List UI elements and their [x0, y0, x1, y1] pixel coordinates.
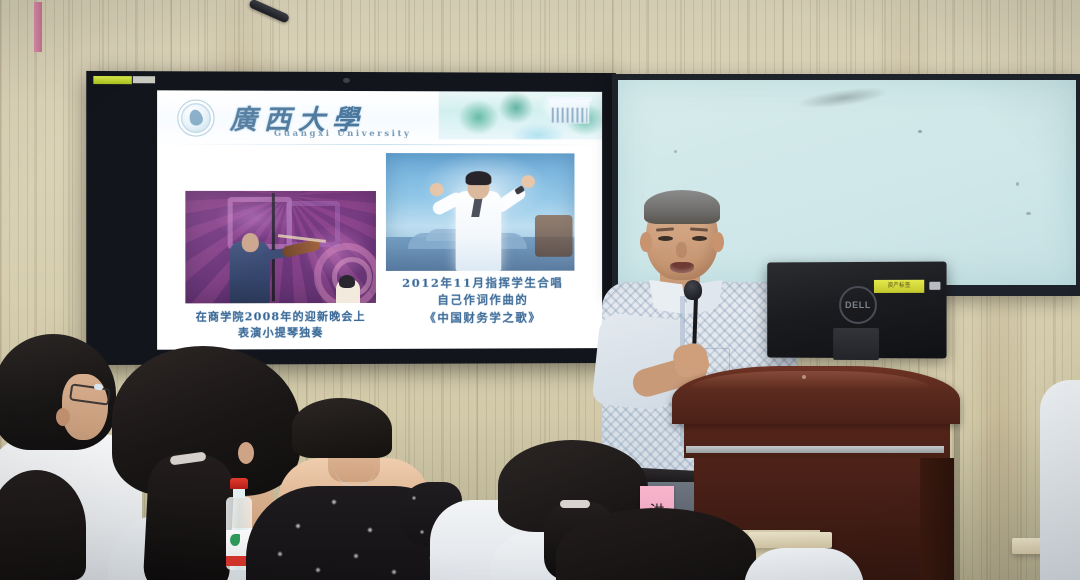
hair-band-icon [560, 500, 590, 508]
bottle-label-green-mark [230, 534, 240, 546]
audience: 洪 [0, 0, 1080, 580]
audience-ponytail-tail [142, 452, 235, 580]
eyeglasses-glint [94, 383, 104, 390]
lecture-hall-photo: 廣西大學 Guangxi University [0, 0, 1080, 580]
name-card-side [34, 2, 42, 52]
audience-floral-hair [292, 398, 392, 458]
audience-member-right-edge [1040, 380, 1080, 580]
audience-man-ear [56, 408, 70, 426]
bottle-neck [233, 489, 245, 498]
audience-member-white-top-right [744, 548, 864, 580]
bottle-cap [230, 478, 248, 489]
